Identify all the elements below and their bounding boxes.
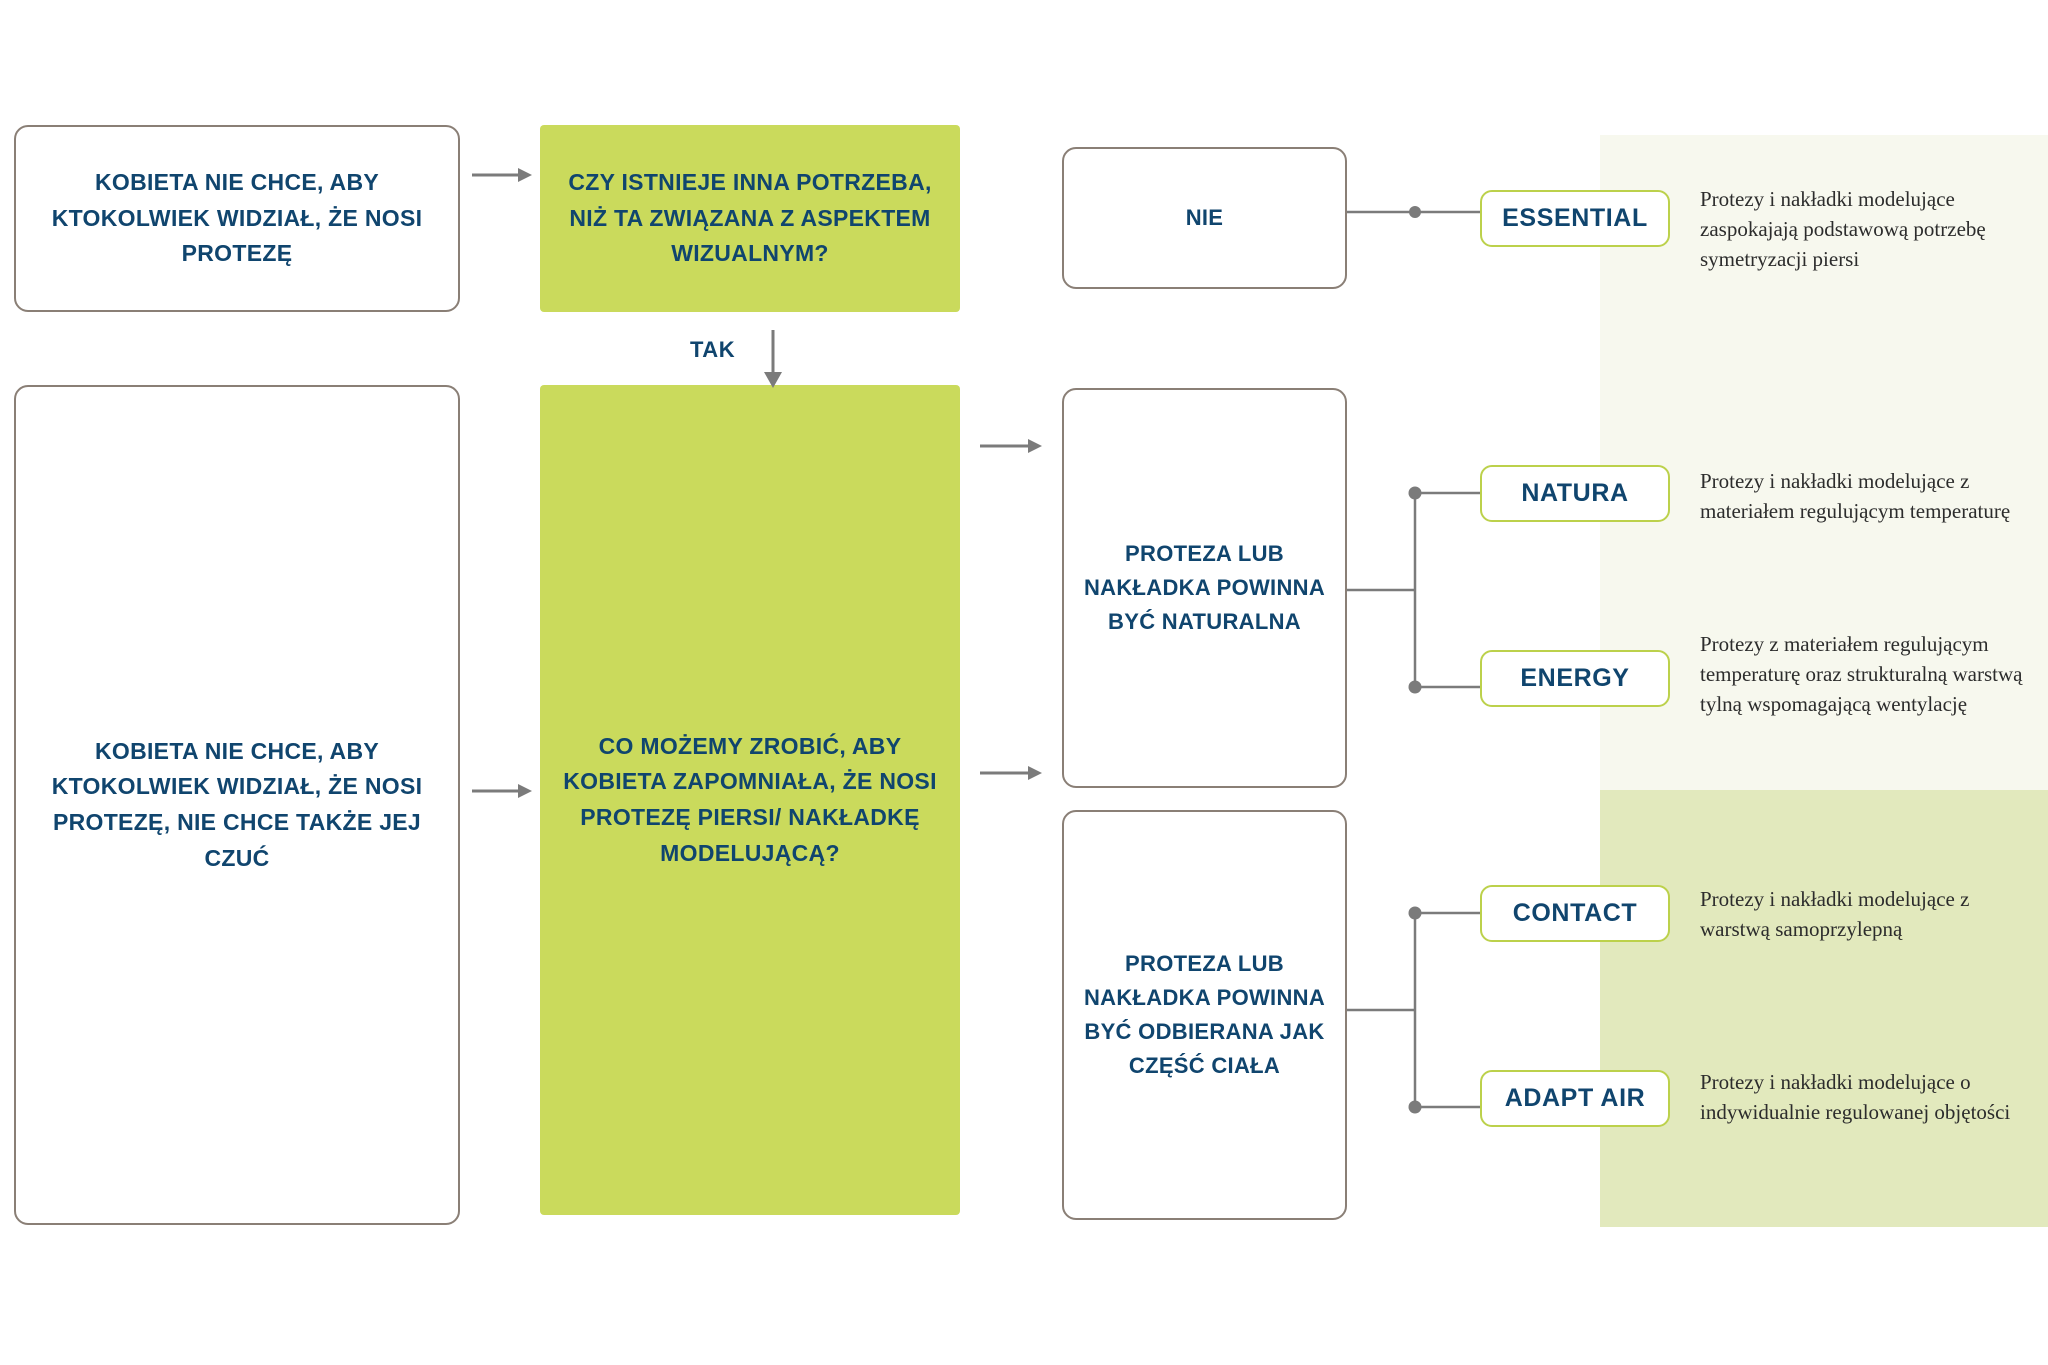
arrow-question2-to-outcome-body: [980, 761, 1042, 785]
product-pill-adapt-air-label: ADAPT AIR: [1505, 1084, 1646, 1113]
outcome-box-body-part: PROTEZA LUB NAKŁADKA POWINNA BYĆ ODBIERA…: [1062, 810, 1347, 1220]
branch-label-tak: TAK: [690, 337, 735, 363]
product-description-adapt-air: Protezy i nakładki modelujące o indywidu…: [1700, 1068, 2040, 1128]
connector-body-to-products: [1347, 900, 1483, 1120]
product-pill-energy[interactable]: ENERGY: [1480, 650, 1670, 707]
connector-dot-icon: [1409, 487, 1422, 500]
connector-dot-icon: [1409, 907, 1422, 920]
connector-natural-to-products: [1347, 480, 1483, 700]
product-pill-essential-label: ESSENTIAL: [1502, 204, 1648, 233]
arrow-question2-to-outcome-natural: [980, 434, 1042, 458]
connector-no-to-essential: [1347, 205, 1483, 219]
persona-box-feel-label: KOBIETA NIE CHCE, ABY KTOKOLWIEK WIDZIAŁ…: [16, 734, 458, 877]
product-pill-contact[interactable]: CONTACT: [1480, 885, 1670, 942]
connector-dot-icon: [1409, 206, 1421, 218]
panel-green-background: [1600, 790, 2048, 1227]
product-pill-natura[interactable]: NATURA: [1480, 465, 1670, 522]
question-box-forget-label: CO MOŻEMY ZROBIĆ, ABY KOBIETA ZAPOMNIAŁA…: [540, 729, 960, 872]
outcome-box-natural-label: PROTEZA LUB NAKŁADKA POWINNA BYĆ NATURAL…: [1064, 537, 1345, 639]
persona-box-visual: KOBIETA NIE CHCE, ABY KTOKOLWIEK WIDZIAŁ…: [14, 125, 460, 312]
arrow-persona1-to-question1: [472, 163, 532, 187]
connector-dot-icon: [1409, 681, 1422, 694]
product-description-natura: Protezy i nakładki modelujące z materiał…: [1700, 467, 2040, 527]
arrow-down-tak: [760, 330, 786, 393]
persona-box-feel: KOBIETA NIE CHCE, ABY KTOKOLWIEK WIDZIAŁ…: [14, 385, 460, 1225]
persona-box-visual-label: KOBIETA NIE CHCE, ABY KTOKOLWIEK WIDZIAŁ…: [16, 165, 458, 272]
connector-dot-icon: [1409, 1101, 1422, 1114]
product-description-essential: Protezy i nakładki modelujące zaspokajaj…: [1700, 185, 2040, 274]
product-pill-adapt-air[interactable]: ADAPT AIR: [1480, 1070, 1670, 1127]
flowchart-canvas: KOBIETA NIE CHCE, ABY KTOKOLWIEK WIDZIAŁ…: [0, 0, 2048, 1365]
product-pill-natura-label: NATURA: [1521, 479, 1628, 508]
product-description-contact: Protezy i nakładki modelujące z warstwą …: [1700, 885, 2040, 945]
product-pill-energy-label: ENERGY: [1520, 664, 1629, 693]
product-description-energy: Protezy z materiałem regulującym tempera…: [1700, 630, 2040, 719]
question-box-other-need-label: CZY ISTNIEJE INNA POTRZEBA, NIŻ TA ZWIĄZ…: [540, 165, 960, 272]
outcome-box-natural: PROTEZA LUB NAKŁADKA POWINNA BYĆ NATURAL…: [1062, 388, 1347, 788]
product-pill-essential[interactable]: ESSENTIAL: [1480, 190, 1670, 247]
question-box-forget: CO MOŻEMY ZROBIĆ, ABY KOBIETA ZAPOMNIAŁA…: [540, 385, 960, 1215]
outcome-box-body-part-label: PROTEZA LUB NAKŁADKA POWINNA BYĆ ODBIERA…: [1064, 947, 1345, 1083]
question-box-other-need: CZY ISTNIEJE INNA POTRZEBA, NIŻ TA ZWIĄZ…: [540, 125, 960, 312]
arrow-persona2-to-question2: [472, 779, 532, 803]
outcome-box-no-label: NIE: [1168, 201, 1242, 235]
product-pill-contact-label: CONTACT: [1513, 899, 1638, 928]
outcome-box-no: NIE: [1062, 147, 1347, 289]
